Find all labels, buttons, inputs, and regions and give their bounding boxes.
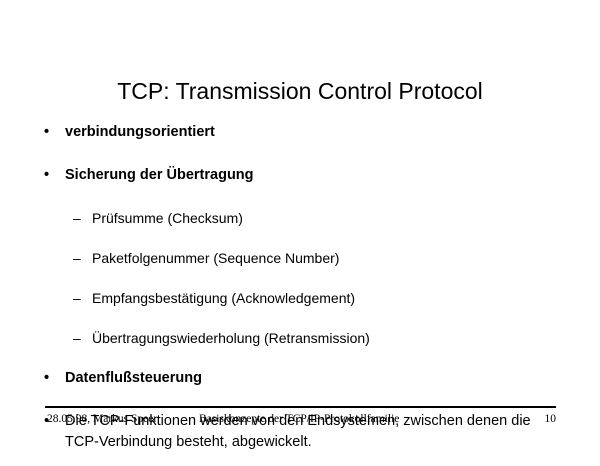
dash-marker-icon: – [73,328,87,348]
slide: TCP: Transmission Control Protocol • ver… [0,0,600,450]
sub-list-item: – Übertragungswiederholung (Retransmissi… [0,328,600,358]
sub-list-item-label: Übertragungswiederholung (Retransmission… [92,328,550,348]
footer-presentation-title: Basiskonzepte der TCP/IP-Protokollfamili… [199,411,399,427]
bullet-marker-icon: • [44,368,56,389]
footer-page-number: 10 [545,411,557,427]
list-item: • Datenflußsteuerung [0,368,600,398]
footer-author-date: 28.05.98, Markus Speer [47,411,157,427]
dash-marker-icon: – [73,248,87,268]
dash-marker-icon: – [73,288,87,308]
sub-list-item-label: Prüfsumme (Checksum) [92,208,550,228]
list-item: • verbindungsorientiert [0,122,600,152]
sub-list-item: – Empfangsbestätigung (Acknowledgement) [0,288,600,318]
sub-list-item-label: Empfangsbestätigung (Acknowledgement) [92,288,550,308]
dash-marker-icon: – [73,208,87,228]
bullet-marker-icon: • [44,122,56,143]
sub-list-item: – Paketfolgenummer (Sequence Number) [0,248,600,278]
sub-list-item-label: Paketfolgenummer (Sequence Number) [92,248,550,268]
footer-divider [45,406,556,408]
footer: 28.05.98, Markus Speer Basiskonzepte der… [45,411,556,431]
list-item-label: Sicherung der Übertragung [65,165,550,186]
sub-bullet-group: – Prüfsumme (Checksum) – Paketfolgenumme… [0,208,600,358]
list-item-label: Datenflußsteuerung [65,368,550,389]
page-title: TCP: Transmission Control Protocol [0,77,600,105]
list-item: • Sicherung der Übertragung [0,165,600,195]
sub-list-item: – Prüfsumme (Checksum) [0,208,600,238]
bullet-marker-icon: • [44,165,56,186]
list-item-label: verbindungsorientiert [65,122,550,143]
